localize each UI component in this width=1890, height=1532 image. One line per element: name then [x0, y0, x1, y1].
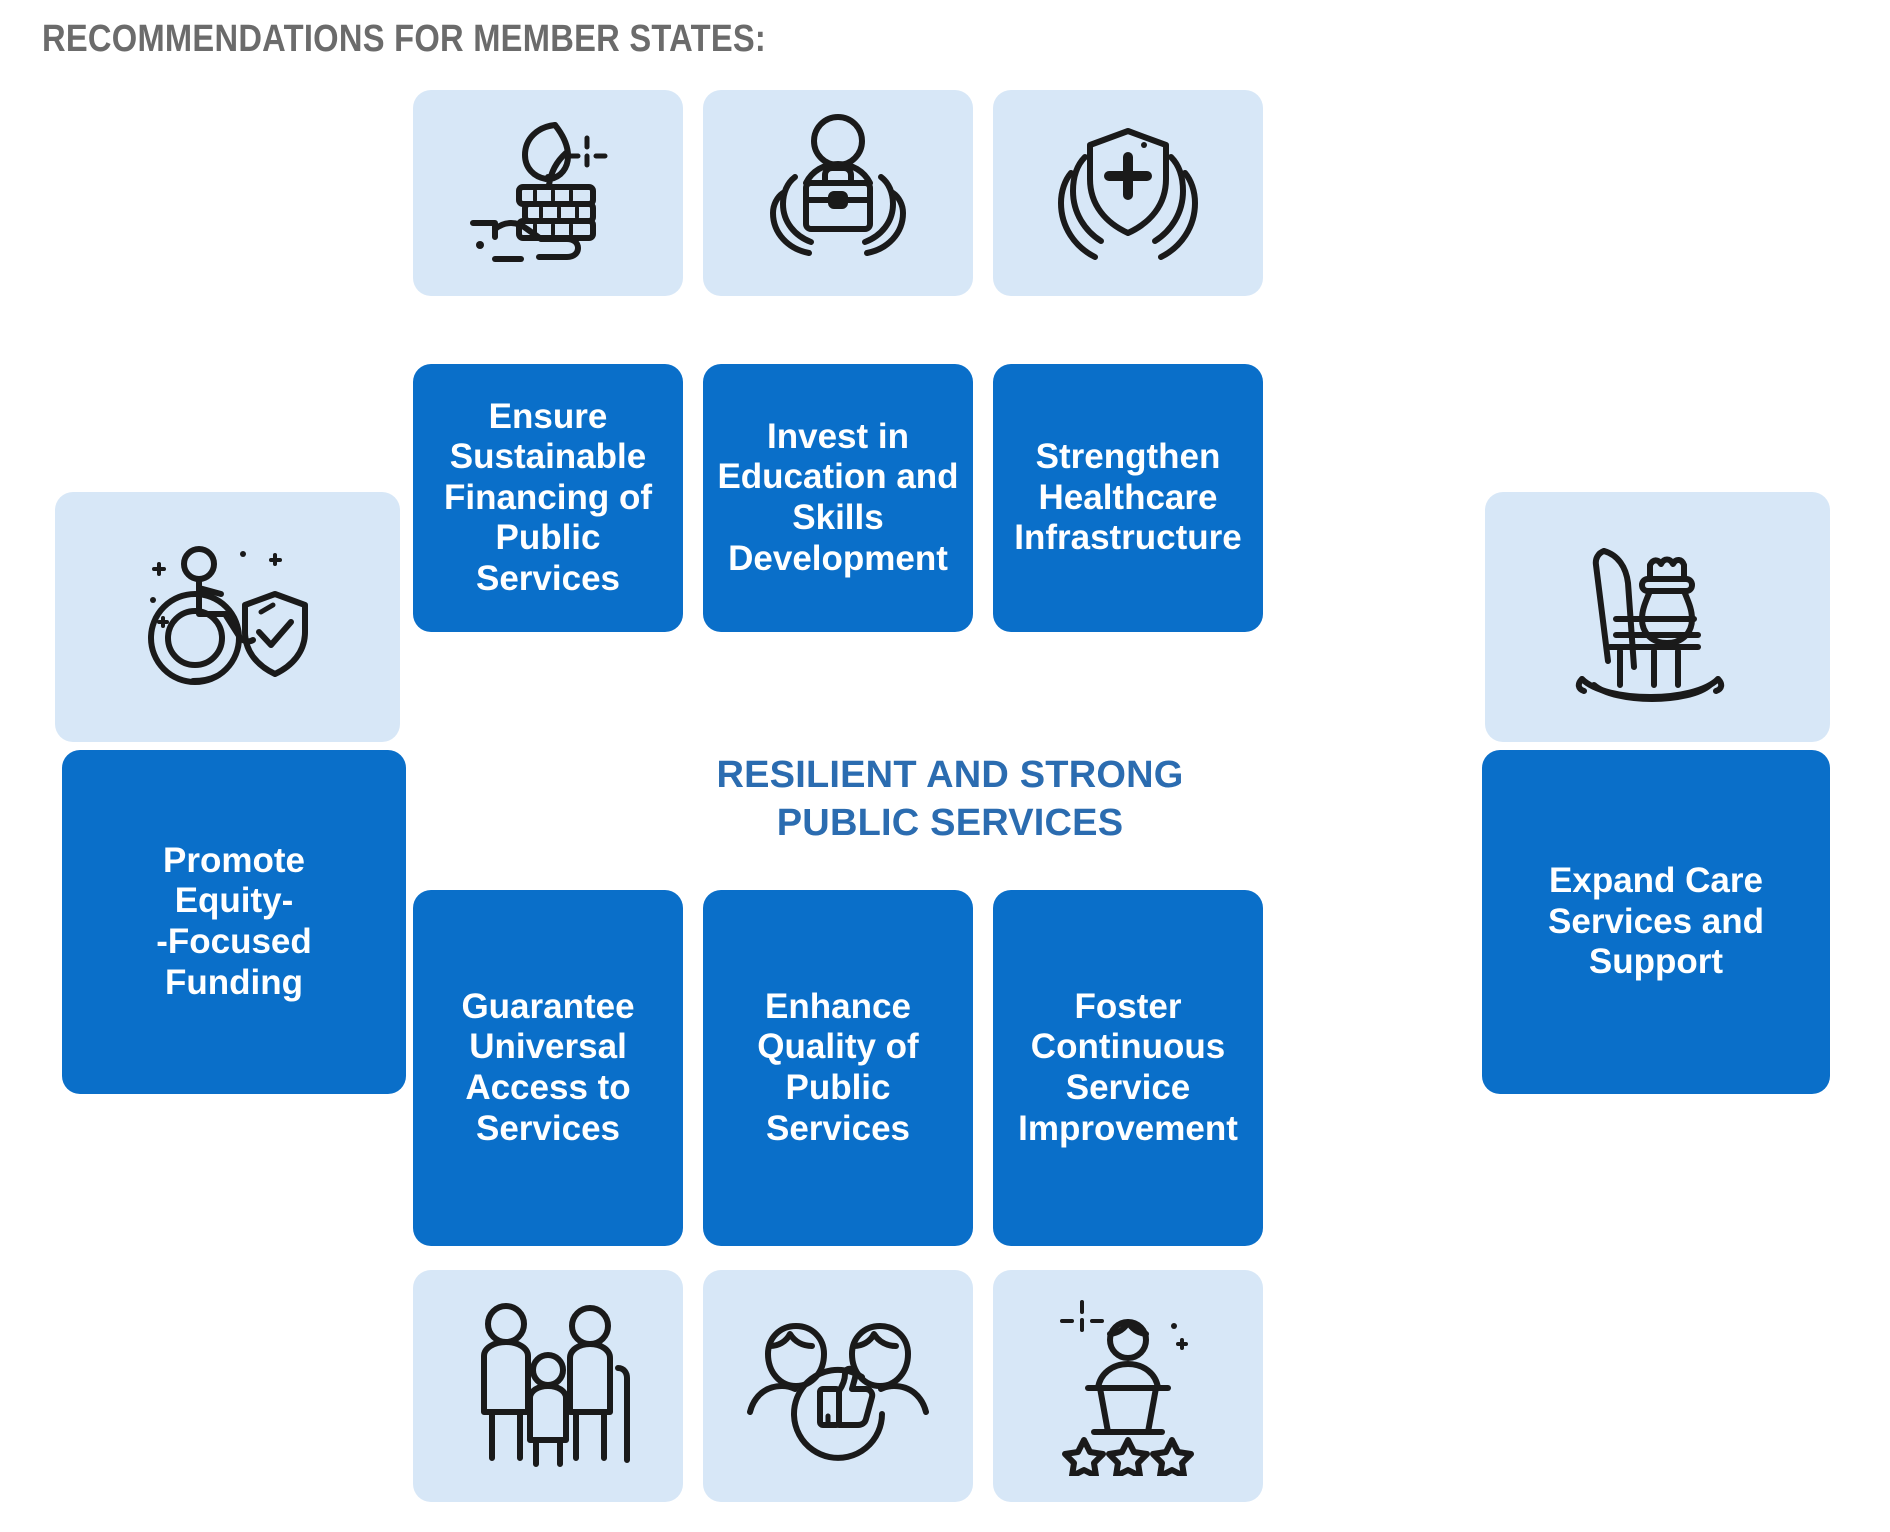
card-label-text: Guarantee Universal Access to Services: [427, 987, 669, 1149]
card-label-universal-access[interactable]: Guarantee Universal Access to Services: [413, 890, 683, 1246]
rocking-chair-with-blanket-icon: [1558, 527, 1758, 707]
icon-card-care-services: [1485, 492, 1830, 742]
card-label-text: Invest in Education and Skills Developme…: [717, 417, 959, 579]
two-people-thumbs-up-icon: [746, 1306, 931, 1466]
page-title: RECOMMENDATIONS FOR MEMBER STATES:: [42, 18, 766, 61]
card-label-text: PromoteEquity--FocusedFunding: [76, 841, 392, 1003]
center-headline-line2: PUBLIC SERVICES: [777, 802, 1123, 844]
card-label-text: Ensure Sustainable Financing of Public S…: [427, 397, 669, 600]
card-label-text: Enhance Quality of Public Services: [717, 987, 959, 1149]
card-label-sustainable-financing[interactable]: Ensure Sustainable Financing of Public S…: [413, 364, 683, 632]
wheelchair-person-shield-check-icon: [123, 530, 333, 705]
hands-holding-medical-shield-icon: [1041, 111, 1216, 276]
card-label-equity-funding[interactable]: PromoteEquity--FocusedFunding: [62, 750, 406, 1094]
card-label-education-skills[interactable]: Invest in Education and Skills Developme…: [703, 364, 973, 632]
icon-card-education-skills: [703, 90, 973, 296]
infographic-root: RECOMMENDATIONS FOR MEMBER STATES:: [0, 0, 1890, 1532]
icon-card-quality-public-services: [703, 1270, 973, 1502]
card-label-service-improvement[interactable]: Foster Continuous Service Improvement: [993, 890, 1263, 1246]
icon-card-universal-access: [413, 1270, 683, 1502]
speaker-podium-three-stars-icon: [1038, 1296, 1218, 1476]
center-headline: RESILIENT AND STRONG PUBLIC SERVICES: [560, 752, 1340, 847]
icon-card-sustainable-financing: [413, 90, 683, 296]
icon-card-healthcare-infrastructure: [993, 90, 1263, 296]
icon-card-service-improvement: [993, 1270, 1263, 1502]
card-label-text: Expand Care Services and Support: [1496, 861, 1816, 983]
center-headline-line1: RESILIENT AND STRONG: [716, 754, 1183, 796]
card-label-healthcare-infrastructure[interactable]: Strengthen Healthcare Infrastructure: [993, 364, 1263, 632]
card-label-care-services[interactable]: Expand Care Services and Support: [1482, 750, 1830, 1094]
card-label-text: Strengthen Healthcare Infrastructure: [1007, 437, 1249, 559]
card-label-text: Foster Continuous Service Improvement: [1007, 987, 1249, 1149]
hand-holding-coins-plant-icon: [463, 111, 633, 276]
family-group-with-cane-icon: [458, 1296, 638, 1476]
hands-holding-briefcase-person-icon: [751, 111, 926, 276]
card-label-quality-public-services[interactable]: Enhance Quality of Public Services: [703, 890, 973, 1246]
icon-card-equity-funding: [55, 492, 400, 742]
